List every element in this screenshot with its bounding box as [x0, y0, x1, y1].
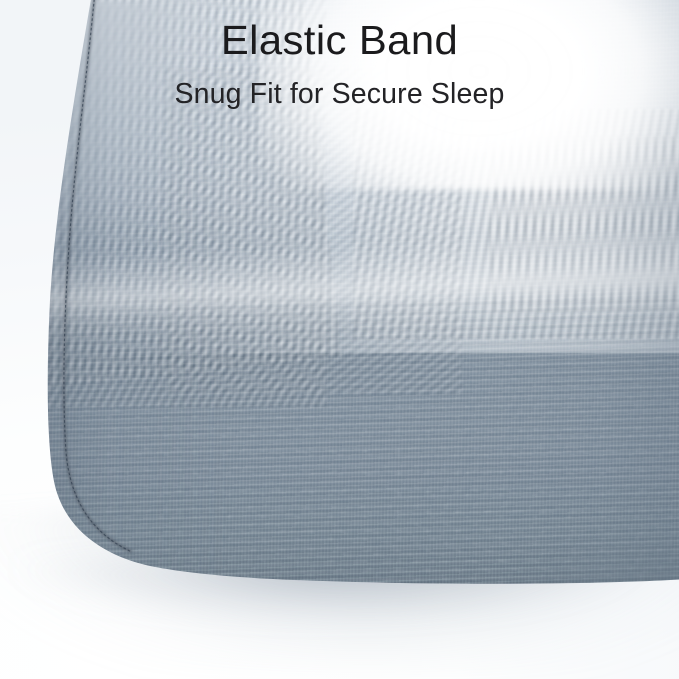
product-photo-scene: Elastic Band Snug Fit for Secure Sleep	[0, 0, 679, 679]
top-wash	[0, 0, 679, 177]
